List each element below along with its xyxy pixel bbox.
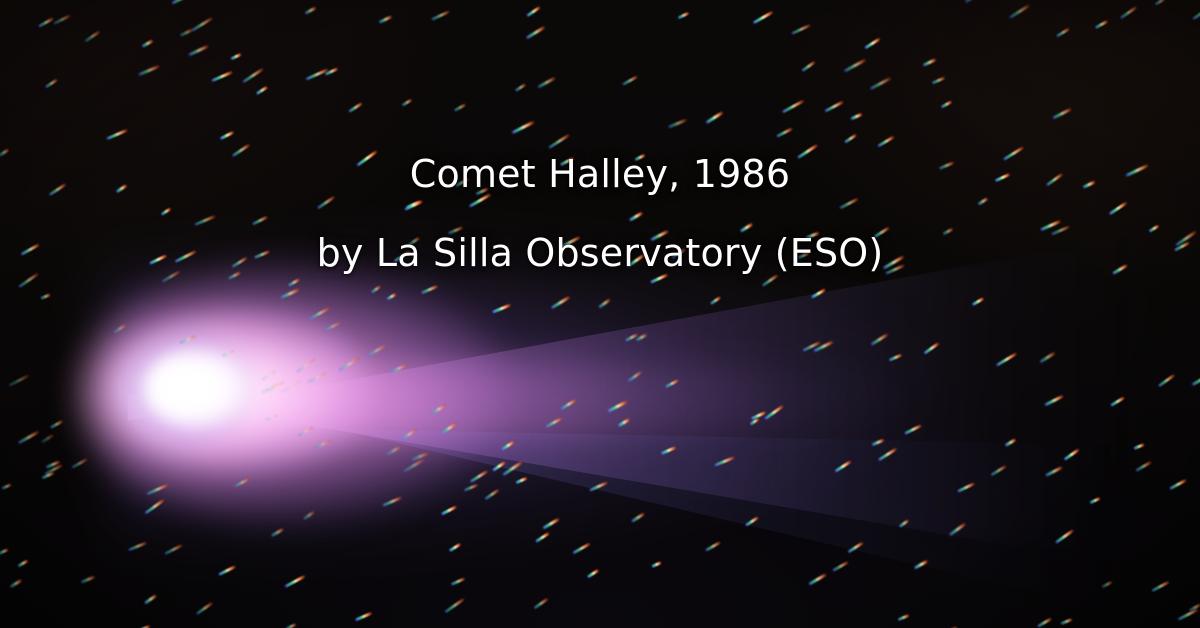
comet-halley-image: Comet Halley, 1986 by La Silla Observato… [0,0,1200,628]
comet-nucleus [144,348,248,428]
comet-layer [0,0,1200,628]
